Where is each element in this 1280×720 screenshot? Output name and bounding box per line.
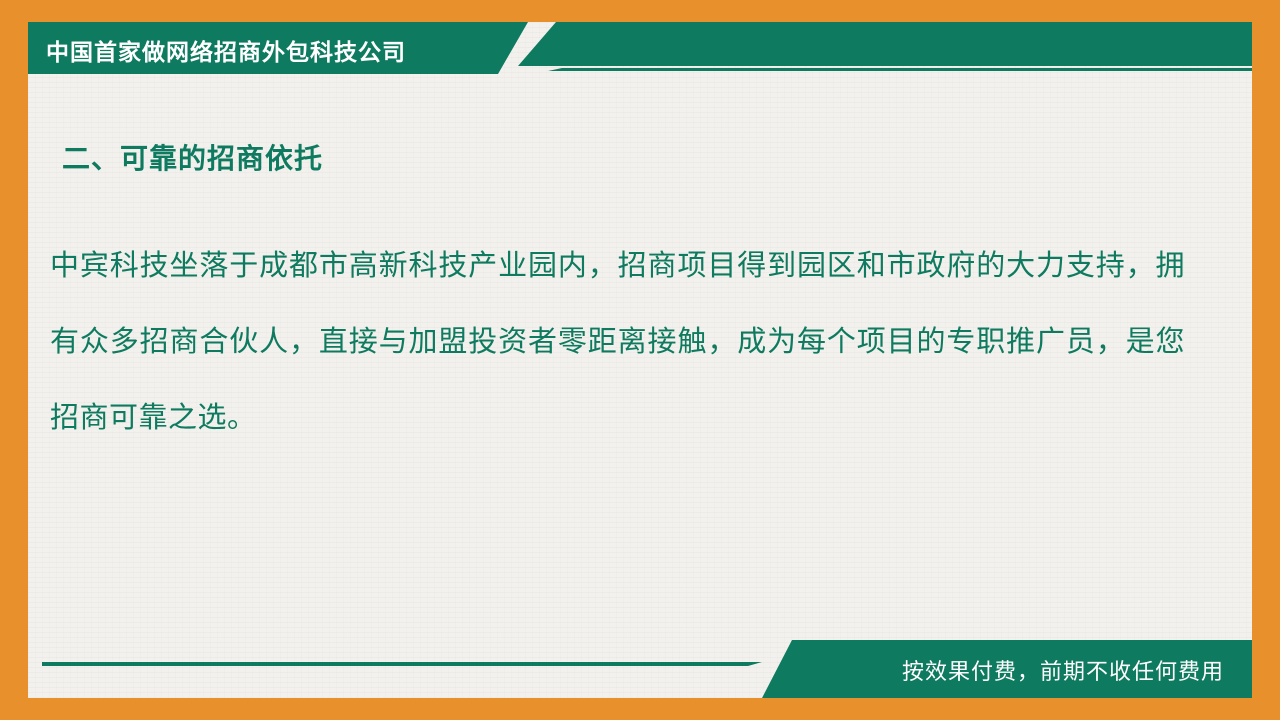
body-paragraph: 中宾科技坐落于成都市高新科技产业园内，招商项目得到园区和市政府的大力支持，拥有众…: [50, 228, 1185, 456]
footer-accent-line: [42, 662, 762, 666]
footer-tagline: 按效果付费，前期不收任何费用: [902, 654, 1224, 686]
section-heading: 二、可靠的招商依托: [62, 137, 323, 177]
presentation-slide: 中国首家做网络招商外包科技公司 二、可靠的招商依托 中宾科技坐落于成都市高新科技…: [0, 0, 1280, 720]
slide-footer: 按效果付费，前期不收任何费用: [28, 640, 1252, 698]
header-title: 中国首家做网络招商外包科技公司: [46, 33, 406, 67]
header-accent-line: [548, 68, 1252, 71]
slide-header: 中国首家做网络招商外包科技公司: [28, 22, 1252, 74]
header-banner-right: [518, 22, 1252, 66]
